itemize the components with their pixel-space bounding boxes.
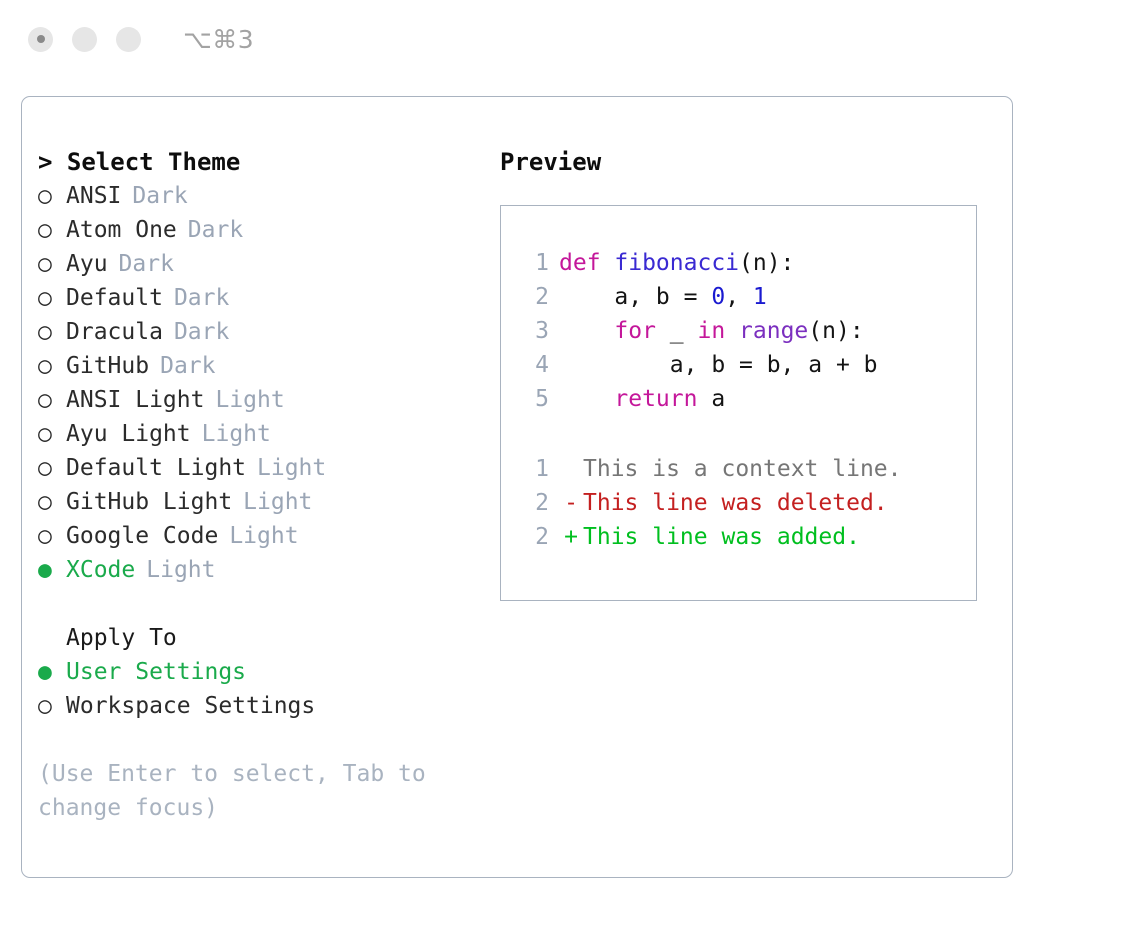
- diff-text: This is a context line.: [583, 452, 902, 486]
- code-line: 2 a, b = 0, 1: [515, 280, 976, 314]
- heading-text: Select Theme: [67, 148, 240, 176]
- theme-name: Ayu: [66, 247, 108, 281]
- theme-name: Atom One: [66, 213, 177, 247]
- theme-name: Default Light: [66, 451, 246, 485]
- traffic-light-buttons: [28, 27, 141, 52]
- preview-box: 1 def fibonacci(n): 2 a, b = 0, 1 3 for …: [500, 205, 977, 601]
- code-content: def fibonacci(n):: [559, 246, 794, 280]
- theme-name: Google Code: [66, 519, 218, 553]
- keyboard-hint-text: (Use Enter to select, Tab to change focu…: [38, 757, 438, 825]
- theme-name: Default: [66, 281, 163, 315]
- code-content: return a: [559, 382, 725, 416]
- apply-to-heading: Apply To: [38, 621, 478, 655]
- theme-list-item[interactable]: ○ GitHub Light Light: [38, 485, 478, 519]
- line-number: 2: [515, 520, 559, 554]
- apply-to-section: Apply To ● User Settings ○ Workspace Set…: [38, 621, 478, 723]
- theme-picker-panel: > Select Theme ○ ANSI Dark ○ Atom One Da…: [21, 96, 1013, 878]
- code-token-builtin: range: [739, 318, 808, 344]
- code-token-plain: [725, 318, 739, 344]
- theme-variant-tag: Light: [243, 485, 312, 519]
- radio-icon[interactable]: ○: [38, 349, 66, 383]
- code-line: 5 return a: [515, 382, 976, 416]
- radio-icon[interactable]: ○: [38, 383, 66, 417]
- radio-icon-selected[interactable]: ●: [38, 553, 66, 587]
- theme-list-item[interactable]: ○ Google Code Light: [38, 519, 478, 553]
- code-token-keyword: in: [697, 318, 725, 344]
- panel-columns: > Select Theme ○ ANSI Dark ○ Atom One Da…: [22, 97, 1012, 877]
- traffic-light-minimize-icon[interactable]: [72, 27, 97, 52]
- theme-name: XCode: [66, 553, 135, 587]
- line-number: 2: [515, 280, 559, 314]
- radio-icon[interactable]: ○: [38, 451, 66, 485]
- diff-marker: +: [559, 520, 583, 554]
- theme-list: ○ ANSI Dark ○ Atom One Dark ○ Ayu Dark: [38, 179, 478, 587]
- theme-selection-column: > Select Theme ○ ANSI Dark ○ Atom One Da…: [38, 145, 478, 825]
- traffic-light-close-icon[interactable]: [28, 27, 53, 52]
- radio-icon[interactable]: ○: [38, 689, 66, 723]
- radio-icon[interactable]: ○: [38, 417, 66, 451]
- theme-list-item[interactable]: ○ GitHub Dark: [38, 349, 478, 383]
- code-line: 4 a, b = b, a + b: [515, 348, 976, 382]
- code-content: a, b = 0, 1: [559, 280, 767, 314]
- radio-icon[interactable]: ○: [38, 213, 66, 247]
- theme-list-item[interactable]: ○ Ayu Dark: [38, 247, 478, 281]
- title-bar: ⌥⌘3: [0, 0, 1140, 78]
- radio-icon[interactable]: ○: [38, 247, 66, 281]
- line-number: 4: [515, 348, 559, 382]
- code-token-plain: [559, 386, 614, 412]
- theme-name: ANSI Light: [66, 383, 204, 417]
- theme-list-item[interactable]: ○ Default Dark: [38, 281, 478, 315]
- code-line: 3 for _ in range(n):: [515, 314, 976, 348]
- theme-name: ANSI: [66, 179, 121, 213]
- theme-list-item[interactable]: ○ Dracula Dark: [38, 315, 478, 349]
- radio-icon[interactable]: ○: [38, 519, 66, 553]
- theme-variant-tag: Dark: [119, 247, 174, 281]
- line-number: 5: [515, 382, 559, 416]
- theme-list-item-selected[interactable]: ● XCode Light: [38, 553, 478, 587]
- theme-variant-tag: Dark: [188, 213, 243, 247]
- theme-variant-tag: Dark: [174, 315, 229, 349]
- diff-text: This line was deleted.: [583, 486, 888, 520]
- theme-list-item[interactable]: ○ Default Light Light: [38, 451, 478, 485]
- code-token-plain: a, b = b, a + b: [559, 352, 878, 378]
- radio-icon[interactable]: ○: [38, 315, 66, 349]
- line-number: 3: [515, 314, 559, 348]
- select-theme-heading: > Select Theme: [38, 145, 478, 179]
- apply-to-label: Workspace Settings: [66, 689, 315, 723]
- preview-spacer: [515, 416, 976, 452]
- code-token-function: fibonacci: [614, 250, 739, 276]
- theme-variant-tag: Light: [202, 417, 271, 451]
- line-number: 1: [515, 246, 559, 280]
- apply-to-label: User Settings: [66, 655, 246, 689]
- theme-list-item[interactable]: ○ ANSI Light Light: [38, 383, 478, 417]
- code-token-plain: a: [697, 386, 725, 412]
- theme-variant-tag: Dark: [160, 349, 215, 383]
- heading-prompt-marker: >: [38, 148, 52, 176]
- diff-marker: -: [559, 486, 583, 520]
- code-content: for _ in range(n):: [559, 314, 864, 348]
- code-token-number: 0: [711, 284, 725, 310]
- code-token-plain: _: [656, 318, 698, 344]
- theme-variant-tag: Dark: [132, 179, 187, 213]
- diff-line-added: 2 + This line was added.: [515, 520, 976, 554]
- traffic-light-maximize-icon[interactable]: [116, 27, 141, 52]
- preview-heading: Preview: [500, 145, 990, 179]
- code-token-plain: (n):: [739, 250, 794, 276]
- theme-name: GitHub: [66, 349, 149, 383]
- code-line: 1 def fibonacci(n):: [515, 246, 976, 280]
- radio-icon[interactable]: ○: [38, 281, 66, 315]
- diff-line-context: 1 This is a context line.: [515, 452, 976, 486]
- line-number: 2: [515, 486, 559, 520]
- radio-icon[interactable]: ○: [38, 179, 66, 213]
- diff-text: This line was added.: [583, 520, 860, 554]
- traffic-light-active-dot: [37, 35, 45, 43]
- code-token-plain: a, b =: [559, 284, 711, 310]
- theme-list-item[interactable]: ○ Ayu Light Light: [38, 417, 478, 451]
- radio-icon-selected[interactable]: ●: [38, 655, 66, 689]
- code-token-keyword: return: [614, 386, 697, 412]
- theme-name: Dracula: [66, 315, 163, 349]
- code-token-plain: [559, 318, 614, 344]
- theme-name: GitHub Light: [66, 485, 232, 519]
- keyboard-shortcut-label: ⌥⌘3: [183, 25, 254, 54]
- radio-icon[interactable]: ○: [38, 485, 66, 519]
- code-content: a, b = b, a + b: [559, 348, 878, 382]
- preview-column: Preview 1 def fibonacci(n): 2 a, b = 0, …: [500, 145, 990, 601]
- code-token-keyword: def: [559, 250, 614, 276]
- theme-list-item[interactable]: ○ ANSI Dark: [38, 179, 478, 213]
- diff-marker: [559, 452, 583, 486]
- apply-to-item-selected[interactable]: ● User Settings: [38, 655, 478, 689]
- theme-variant-tag: Light: [229, 519, 298, 553]
- code-token-number: 1: [753, 284, 767, 310]
- code-token-keyword: for: [614, 318, 656, 344]
- code-token-plain: ,: [725, 284, 753, 310]
- diff-line-deleted: 2 - This line was deleted.: [515, 486, 976, 520]
- apply-to-item[interactable]: ○ Workspace Settings: [38, 689, 478, 723]
- theme-name: Ayu Light: [66, 417, 191, 451]
- line-number: 1: [515, 452, 559, 486]
- theme-variant-tag: Dark: [174, 281, 229, 315]
- theme-variant-tag: Light: [215, 383, 284, 417]
- app-window: ⌥⌘3 > Select Theme ○ ANSI Dark ○ Atom On…: [0, 0, 1140, 934]
- code-token-plain: (n):: [808, 318, 863, 344]
- theme-variant-tag: Light: [257, 451, 326, 485]
- theme-variant-tag: Light: [146, 553, 215, 587]
- theme-list-item[interactable]: ○ Atom One Dark: [38, 213, 478, 247]
